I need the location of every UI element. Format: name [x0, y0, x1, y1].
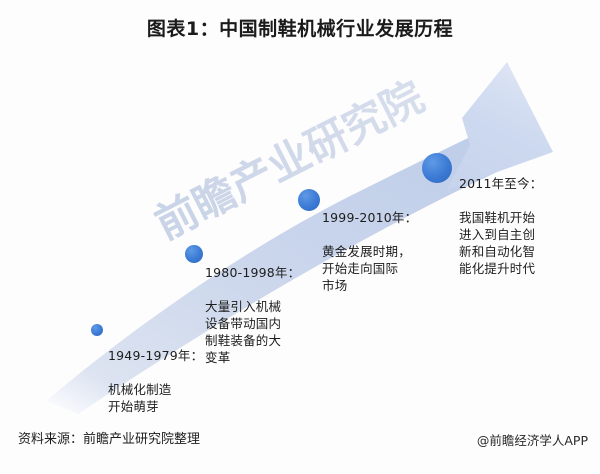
- milestone-period-2: 1980-1998年：: [205, 265, 300, 280]
- milestone-description-2: 大量引入机械 设备带动国内 制鞋装备的大 变革: [205, 299, 281, 365]
- milestone-period-4: 2011年至今：: [459, 176, 542, 191]
- milestone-label-2: 1980-1998年： 大量引入机械 设备带动国内 制鞋装备的大 变革: [205, 247, 300, 366]
- milestone-label-4: 2011年至今： 我国鞋机开始 进入到自主创 新和自动化智 能化提升时代: [459, 158, 542, 277]
- milestone-label-1: 1949-1979年： 机械化制造 开始萌芽: [108, 330, 203, 415]
- milestone-description-3: 黄金发展时期， 开始走向国际 市场: [322, 244, 411, 293]
- milestone-dot-1: [91, 324, 103, 336]
- brand-credit: @前瞻经济学人APP: [477, 430, 588, 449]
- milestone-period-3: 1999-2010年：: [322, 210, 417, 225]
- page-title: 图表1：中国制鞋机械行业发展历程: [0, 14, 600, 41]
- milestone-dot-4: [422, 153, 452, 183]
- milestone-dot-3: [298, 189, 320, 211]
- milestone-description-1: 机械化制造 开始萌芽: [108, 382, 172, 414]
- milestone-description-4: 我国鞋机开始 进入到自主创 新和自动化智 能化提升时代: [459, 210, 535, 276]
- source-note: 资料来源：前瞻产业研究院整理: [18, 428, 200, 447]
- milestone-period-1: 1949-1979年：: [108, 348, 203, 363]
- milestone-dot-2: [185, 245, 203, 263]
- milestone-label-3: 1999-2010年： 黄金发展时期， 开始走向国际 市场: [322, 192, 417, 294]
